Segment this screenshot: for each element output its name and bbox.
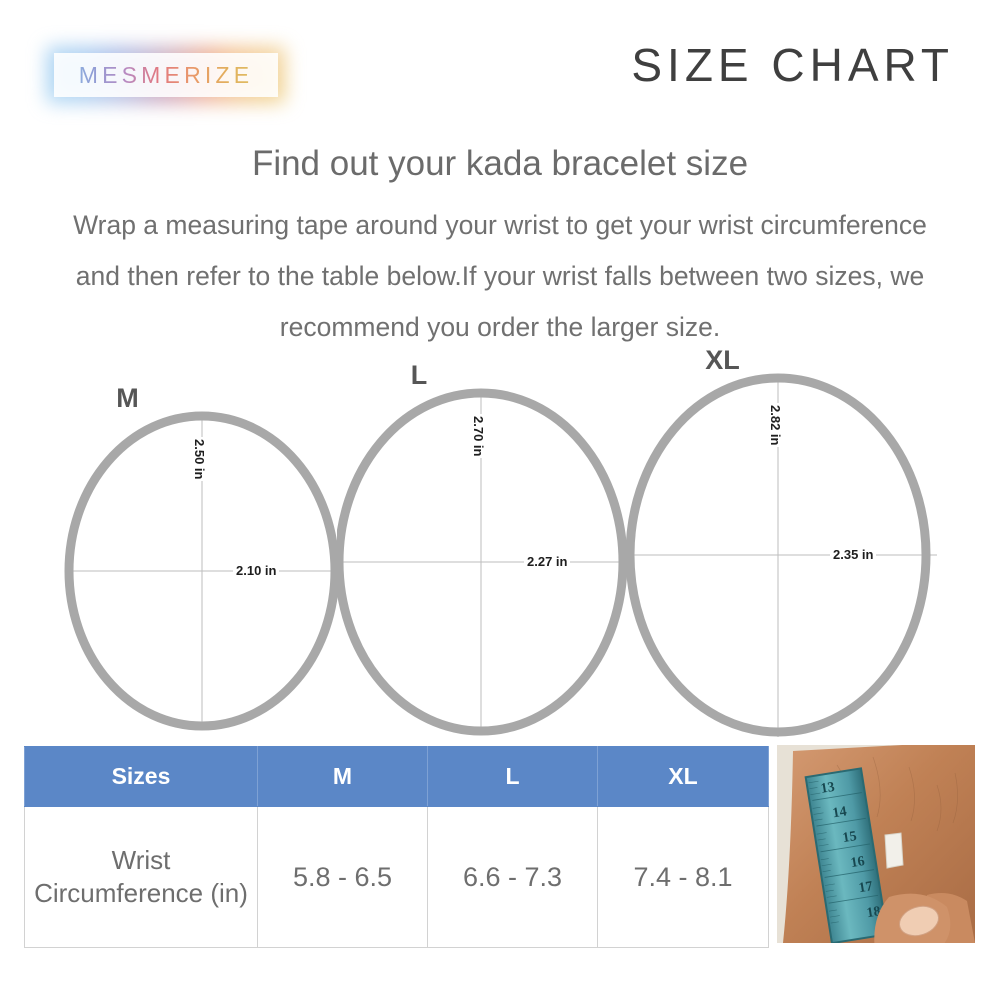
table-header-xl: XL [598, 747, 769, 807]
table-row: Wrist Circumference (in) 5.8 - 6.5 6.6 -… [25, 807, 769, 948]
tape-mark-14: 14 [832, 804, 848, 821]
table-header-m: M [258, 747, 428, 807]
tape-mark-13: 13 [820, 780, 836, 797]
cell-wrist-circumference-l: 6.6 - 7.3 [428, 807, 598, 948]
brand-wordmark: MESMERIZE [54, 53, 278, 97]
size-figure-m: M 2.50 in 2.10 in [60, 355, 345, 745]
size-chart-table: Sizes M L XL Wrist Circumference (in) 5.… [24, 746, 769, 948]
dimension-height-xl: 2.82 in [767, 403, 784, 447]
table-header-sizes: Sizes [25, 747, 258, 807]
intro-body-text: Wrap a measuring tape around your wrist … [50, 200, 950, 353]
dimension-width-xl: 2.35 in [830, 546, 876, 563]
wrist-measurement-photo: 13 14 15 16 17 18 [777, 745, 975, 943]
cell-wrist-circumference-xl: 7.4 - 8.1 [598, 807, 769, 948]
ellipse-m [60, 355, 345, 745]
wrist-photo-illustration: 13 14 15 16 17 18 [777, 745, 975, 943]
cell-wrist-circumference-m: 5.8 - 6.5 [258, 807, 428, 948]
intro-heading: Find out your kada bracelet size [0, 144, 1000, 184]
dimension-height-m: 2.50 in [191, 437, 208, 481]
size-figure-l: L 2.70 in 2.27 in [337, 355, 637, 745]
tape-mark-15: 15 [842, 829, 858, 846]
brand-logo: MESMERIZE [46, 46, 286, 104]
page-title: SIZE CHART [631, 42, 954, 88]
table-header-l: L [428, 747, 598, 807]
table-header-row: Sizes M L XL [25, 747, 769, 807]
size-figure-xl: XL 2.82 in 2.35 in [625, 355, 940, 745]
tape-mark-17: 17 [858, 879, 874, 896]
dimension-width-l: 2.27 in [524, 553, 570, 570]
dimension-width-m: 2.10 in [233, 562, 279, 579]
dimension-height-l: 2.70 in [470, 414, 487, 458]
ellipse-l [337, 355, 637, 745]
row-label-wrist-circumference: Wrist Circumference (in) [25, 807, 258, 948]
tape-mark-16: 16 [850, 854, 866, 871]
size-diagrams: M 2.50 in 2.10 in L 2.70 in 2.27 in XL 2… [0, 355, 1000, 745]
